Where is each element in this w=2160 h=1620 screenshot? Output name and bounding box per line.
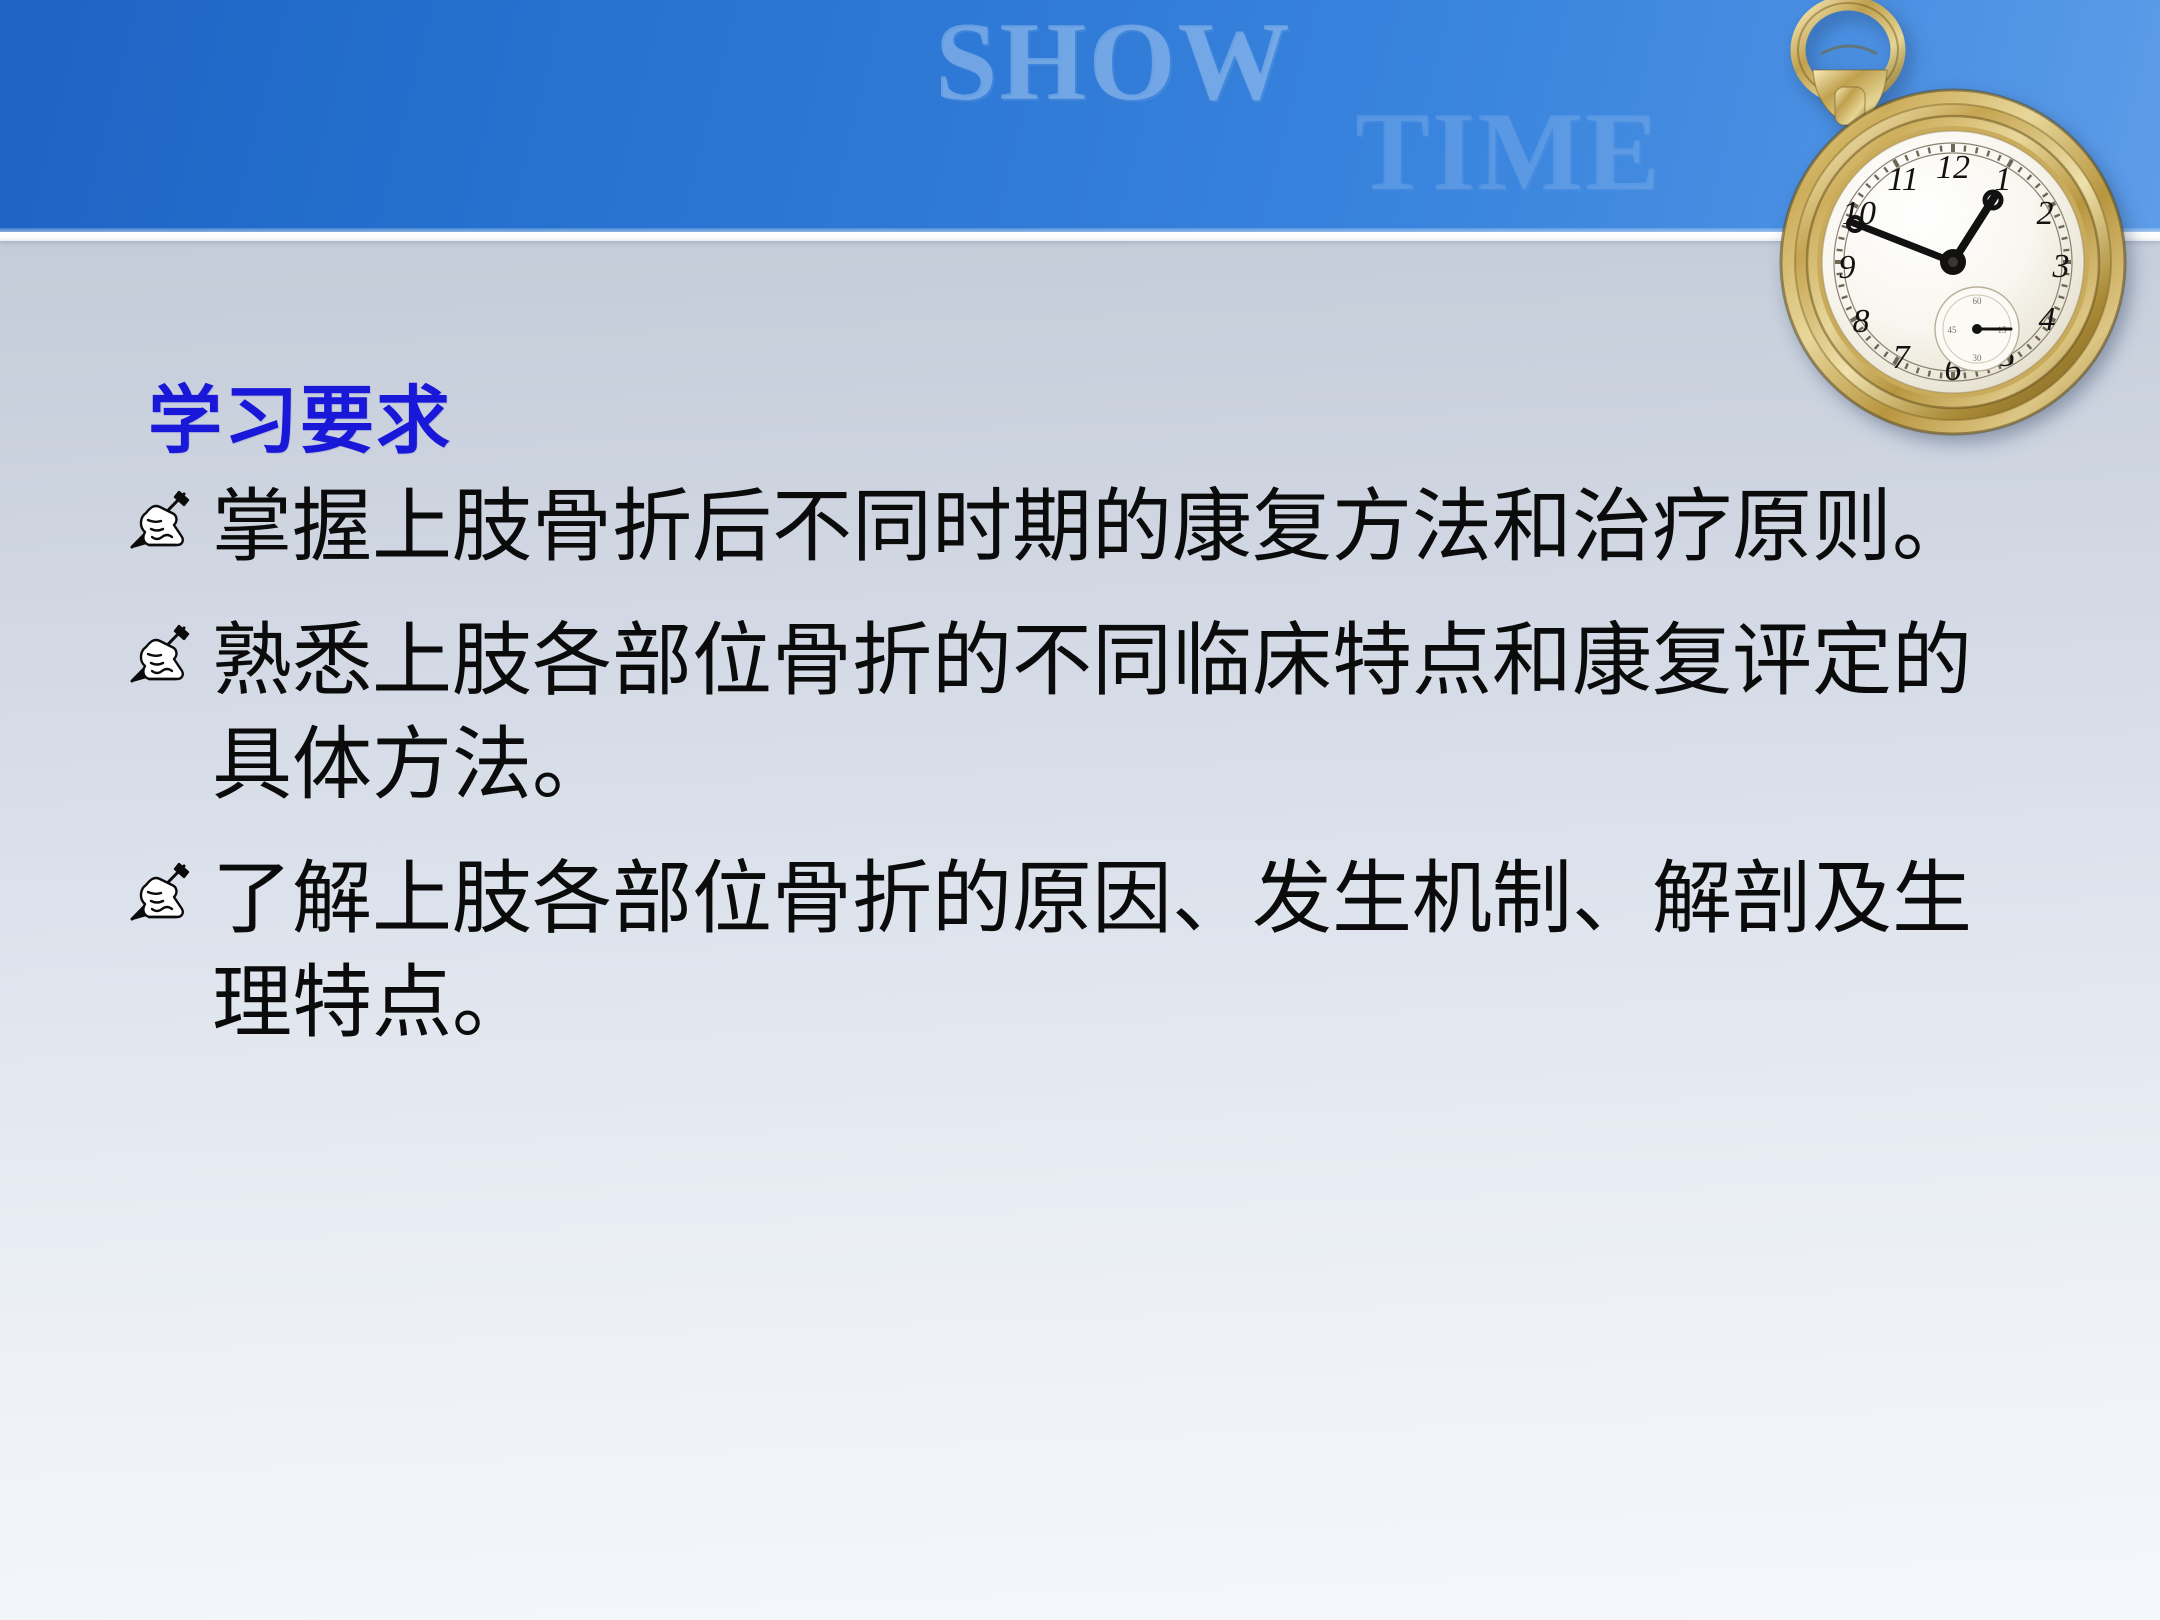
svg-text:3: 3 [2052,248,2070,285]
writing-hand-icon [130,623,212,685]
learning-objectives-list: 掌握上肢骨折后不同时期的康复方法和治疗原则。 [0,475,2160,1055]
svg-text:30: 30 [1973,353,1983,363]
list-item-text: 熟悉上肢各部位骨折的不同临床特点和康复评定的具体方法。 [212,609,2010,817]
svg-text:45: 45 [1948,325,1958,335]
presentation-slide: SHOW TIME [0,0,2160,1620]
list-item: 掌握上肢骨折后不同时期的康复方法和治疗原则。 [0,475,2160,579]
svg-text:11: 11 [1887,161,1918,198]
writing-hand-icon [130,861,212,923]
svg-text:7: 7 [1893,339,1912,376]
list-item: 熟悉上肢各部位骨折的不同临床特点和康复评定的具体方法。 [0,609,2160,817]
svg-text:12: 12 [1936,149,1970,186]
svg-text:8: 8 [1853,303,1870,340]
svg-text:60: 60 [1973,296,1983,306]
svg-text:4: 4 [2039,301,2056,338]
list-item-text: 掌握上肢骨折后不同时期的康复方法和治疗原则。 [212,475,2010,579]
svg-text:2: 2 [2037,195,2054,232]
slide-content: 学习要求 [0,380,2160,1085]
page-title: 学习要求 [148,380,2160,463]
writing-hand-icon [130,489,212,551]
svg-text:9: 9 [1839,249,1856,286]
list-item-text: 了解上肢各部位骨折的原因、发生机制、解剖及生理特点。 [212,847,2010,1055]
list-item: 了解上肢各部位骨折的原因、发生机制、解剖及生理特点。 [0,847,2160,1055]
